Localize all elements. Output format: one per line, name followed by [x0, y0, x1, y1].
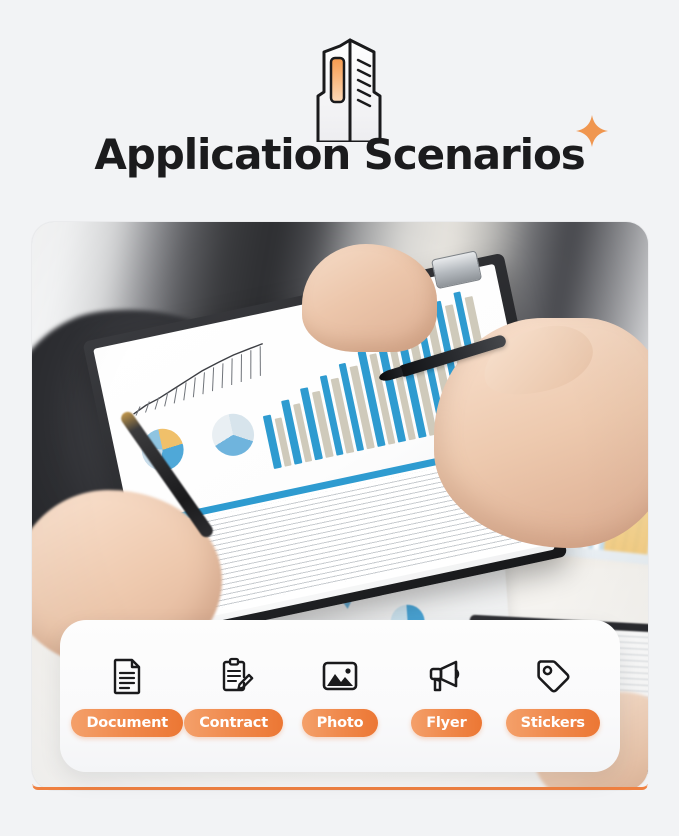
category-label-contract: Contract	[184, 709, 283, 737]
category-item-stickers[interactable]: Stickers	[501, 655, 605, 737]
category-label-document: Document	[71, 709, 183, 737]
page-title: Application Scenarios	[94, 130, 584, 180]
category-label-stickers: Stickers	[506, 709, 600, 737]
category-label-photo: Photo	[302, 709, 379, 737]
category-item-flyer[interactable]: Flyer	[394, 655, 498, 737]
photo-hand-top	[302, 244, 437, 352]
sparkle-icon	[575, 114, 609, 148]
category-item-contract[interactable]: Contract	[182, 655, 286, 737]
title-wrap: Application Scenarios	[94, 130, 584, 180]
tag-icon	[532, 655, 574, 697]
building-icon	[288, 38, 408, 142]
category-card: Document Contract	[60, 620, 620, 772]
document-icon	[106, 655, 148, 697]
clipboard-pen-icon	[213, 655, 255, 697]
image-icon	[319, 655, 361, 697]
category-label-flyer: Flyer	[411, 709, 481, 737]
photo-report-pie-2	[208, 410, 258, 460]
category-item-photo[interactable]: Photo	[288, 655, 392, 737]
category-item-document[interactable]: Document	[75, 655, 179, 737]
megaphone-icon	[425, 655, 467, 697]
page-root: Application Scenarios	[0, 0, 679, 836]
title-row: Application Scenarios	[0, 130, 679, 180]
header: Application Scenarios	[0, 0, 679, 200]
